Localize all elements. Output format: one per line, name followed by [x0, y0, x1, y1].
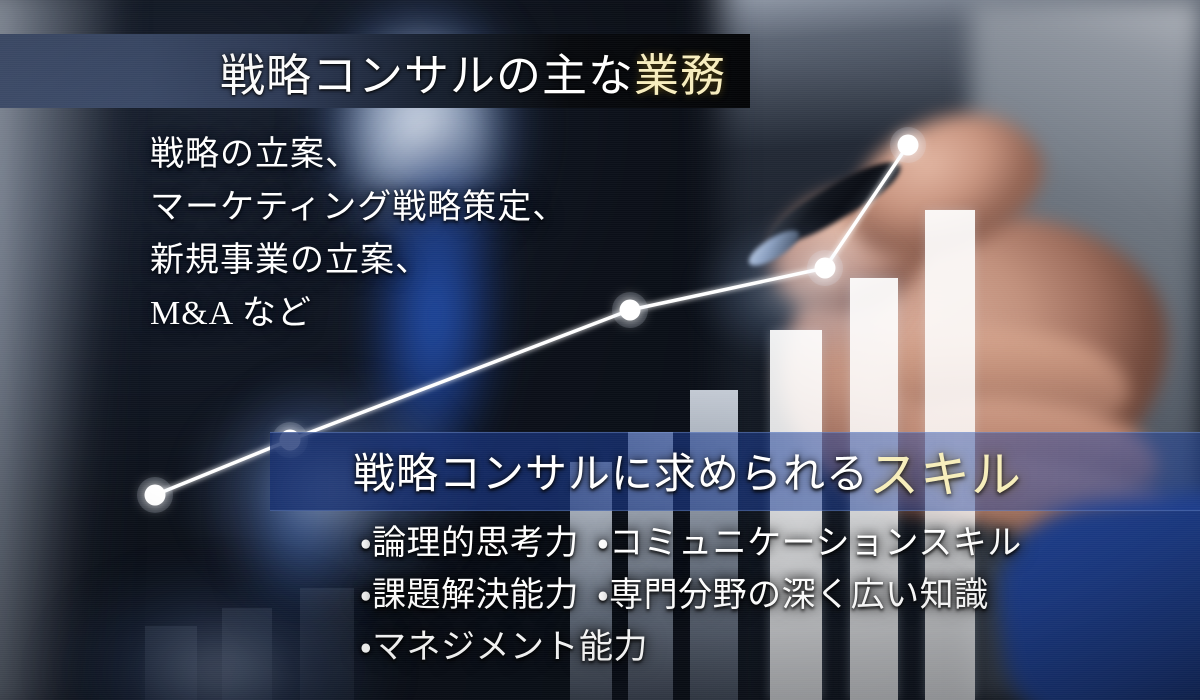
banner-canvas: 戦略コンサルの主な業務 戦略の立案、 マーケティング戦略策定、 新規事業の立案、…	[0, 0, 1200, 700]
film-grain-overlay	[0, 0, 1200, 700]
